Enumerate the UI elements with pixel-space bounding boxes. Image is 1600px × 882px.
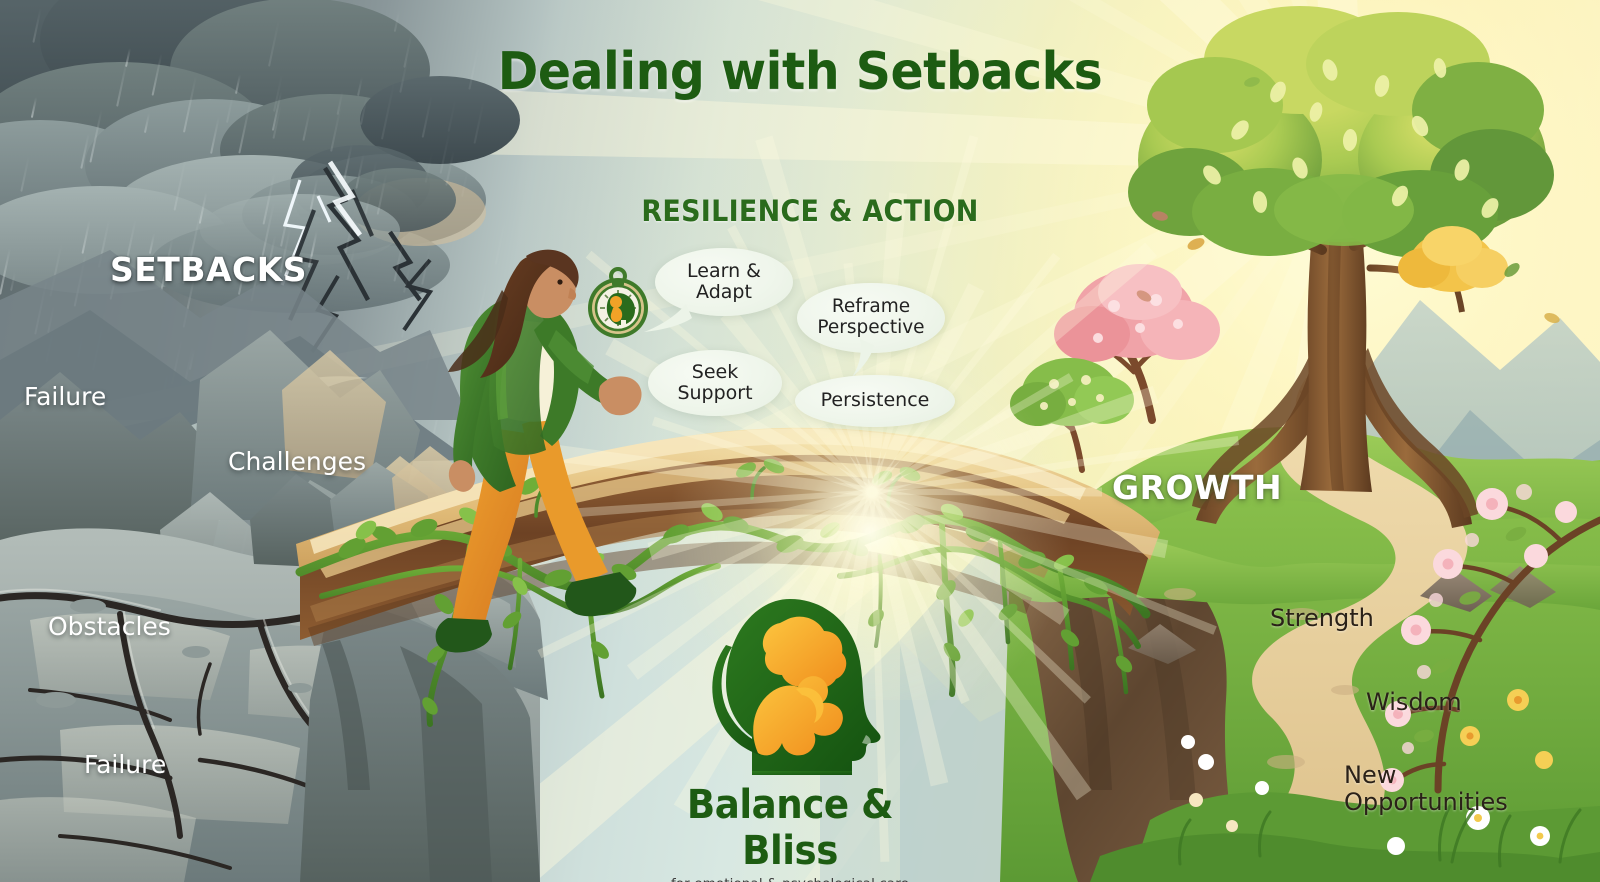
bubble-label: Reframe Perspective <box>817 297 924 339</box>
label-challenges: Challenges <box>228 447 366 476</box>
label-obstacles: Obstacles <box>48 612 171 641</box>
label-failure-upper: Failure <box>24 382 106 411</box>
page-title: Dealing with Setbacks <box>48 42 1552 102</box>
label-strength: Strength <box>1270 604 1374 632</box>
head-profile-with-brain-and-hand-icon <box>640 585 940 775</box>
bubble-label: Persistence <box>821 390 930 411</box>
logo-tagline: for emotional & psychological care <box>640 876 940 882</box>
label-failure-lower: Failure <box>84 750 166 779</box>
bubble-label: Learn & Adapt <box>687 261 761 304</box>
label-new-opportunities: New Opportunities <box>1344 762 1508 816</box>
section-subtitle: RESILIENCE & ACTION <box>494 194 1126 228</box>
compass-clock-with-head-icon <box>588 269 648 338</box>
speech-bubble-persistence[interactable]: Persistence <box>795 375 955 427</box>
setbacks-heading: SETBACKS <box>110 250 307 289</box>
growth-heading: GROWTH <box>1112 468 1282 507</box>
bubble-tail-learn-adapt <box>640 300 700 350</box>
speech-bubble-seek-support[interactable]: Seek Support <box>648 350 782 416</box>
infographic-poster: Learn & Adapt Reframe Perspective Seek S… <box>0 0 1600 882</box>
bubble-label: Seek Support <box>677 362 752 405</box>
label-wisdom: Wisdom <box>1366 688 1462 716</box>
logo: Balance & Bliss for emotional & psycholo… <box>640 585 940 882</box>
logo-name: Balance & Bliss <box>651 782 930 874</box>
